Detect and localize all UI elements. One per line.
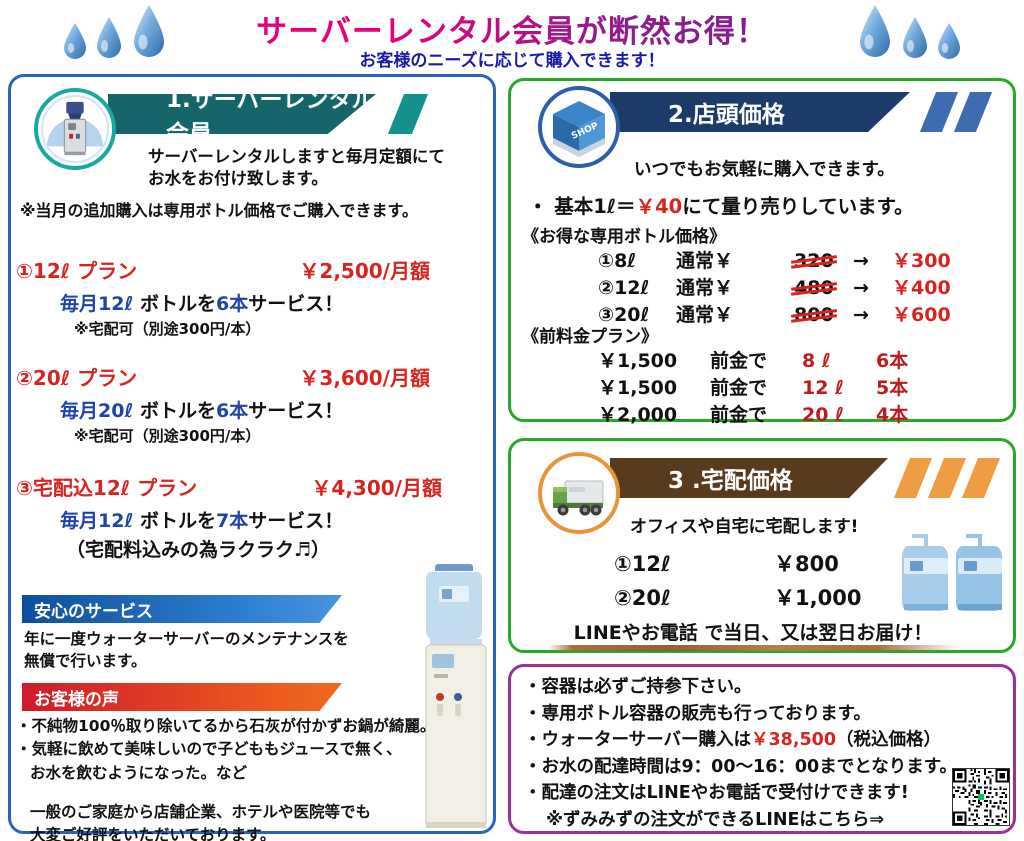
voice-line-5: 大変ご好評をいただいております。 xyxy=(16,824,436,841)
plan-price: ￥4,300/月額 xyxy=(311,472,486,501)
delivery-footer-text: LINEやお電話 で当日、又は翌日お届け！ xyxy=(538,618,968,645)
note-line: ・専用ボトル容器の販売も行っております。 xyxy=(524,701,994,728)
bottle-row-label: 通常￥ xyxy=(676,273,794,300)
arrow-icon: → xyxy=(830,277,892,299)
delivery-row-price: ￥800 xyxy=(774,548,839,578)
poster-header: サーバーレンタル会員が断然お得！ お客様のニーズに応じて購入できます！ xyxy=(0,0,1024,72)
section-3-title: 3 .宅配価格 xyxy=(668,461,793,495)
table-row: ￥1,500 前金で 12 ℓ 5本 xyxy=(598,373,908,400)
bottle-row-old-price: 480 xyxy=(794,277,834,299)
safe-service-line2: 無償で行います。 xyxy=(24,650,424,672)
section-2-title: 2.店頭価格 xyxy=(668,95,785,129)
safe-service-body: 年に一度ウォーターサーバーのメンテナンスを 無償で行います。 xyxy=(24,628,424,673)
plan-service-post: サービス！ xyxy=(248,400,343,422)
prepay-amount: ￥1,500 xyxy=(598,346,710,373)
shop-basic-pre: ・ 基本1ℓ＝ xyxy=(528,195,636,218)
note-line: ・お水の配達時間は9：00〜16：00までとなります。 xyxy=(524,754,994,781)
bottle-price-table: ①8ℓ 通常￥ 320 → ￥300 ②12ℓ 通常￥ 480 → ￥400 ③… xyxy=(598,246,951,327)
voice-line-3: お水を飲むようになった。など xyxy=(16,762,436,785)
notes-list: ・容器は必ずご持参下さい。 ・専用ボトル容器の販売も行っております。 ・ウォータ… xyxy=(524,674,994,834)
prepay-volume: 8 ℓ xyxy=(802,350,876,372)
bottle-price-heading: 《お得な専用ボトル価格》 xyxy=(522,222,726,247)
plan-service-pre: 毎月 xyxy=(60,510,98,532)
note-server-price: ￥38,500 xyxy=(751,730,836,750)
table-row: ￥1,500 前金で 8 ℓ 6本 xyxy=(598,346,908,373)
prepay-count: 6本 xyxy=(876,346,908,373)
water-server-photo xyxy=(412,556,496,834)
rental-lead-line2: お水をお付け致します。 xyxy=(148,168,488,190)
bottle-row-label: 通常￥ xyxy=(676,246,794,273)
prepay-amount: ￥2,000 xyxy=(598,400,710,427)
note-line: ・容器は必ずご持参下さい。 xyxy=(524,674,994,701)
shop-basic-amount: ￥40 xyxy=(636,195,683,218)
water-server-icon xyxy=(34,88,116,170)
bottle-row-new-price: ￥300 xyxy=(892,246,951,273)
rental-lead-text: サーバーレンタルしますと毎月定額にて お水をお付け致します。 xyxy=(148,146,488,191)
poster-subtitle: お客様のニーズに応じて購入できます！ xyxy=(0,46,1024,71)
plan-item: ②20ℓ プラン ￥3,600/月額 毎月20ℓ ボトルを6本サービス！ ※宅配… xyxy=(16,362,486,446)
delivery-row-price: ￥1,000 xyxy=(774,582,861,612)
note-line-line-qr: ※ずみみずの注文ができるLINEはこちら⇒ xyxy=(524,807,994,834)
plan-name: ①12ℓ プラン xyxy=(16,255,137,284)
prepay-text: 前金で xyxy=(710,373,802,400)
shop-basic-price: ・ 基本1ℓ＝￥40にて量り売りしています。 xyxy=(528,190,914,219)
table-row: ￥2,000 前金で 20 ℓ 4本 xyxy=(598,400,908,427)
plan-service-volume: 12ℓ xyxy=(98,510,133,532)
bottle-row-no: ①8ℓ xyxy=(598,250,676,272)
customer-voice-label: お客様の声 xyxy=(22,683,342,711)
note-server-post: （税込価格） xyxy=(836,730,941,750)
prepay-amount: ￥1,500 xyxy=(598,373,710,400)
plan-service-count: 6本 xyxy=(216,293,248,315)
safe-service-label: 安心のサービス xyxy=(22,595,342,623)
bottle-row-old-price: 800 xyxy=(794,304,834,326)
note-line-server-price: ・ウォーターサーバー購入は￥38,500（税込価格） xyxy=(524,727,994,754)
voice-line-4: 一般のご家庭から店舗企業、ホテルや医院等でも xyxy=(16,801,436,824)
plan-service-count: 7本 xyxy=(216,510,248,532)
prepay-table: ￥1,500 前金で 8 ℓ 6本 ￥1,500 前金で 12 ℓ 5本 ￥2,… xyxy=(598,346,908,427)
section-2-banner: 2.店頭価格 xyxy=(610,92,910,132)
plan-service-volume: 20ℓ xyxy=(98,400,133,422)
table-row: ②20ℓ ￥1,000 xyxy=(614,582,861,616)
shop-basic-post: にて量り売りしています。 xyxy=(682,195,913,218)
plan-note: ※宅配可（別途300円/本） xyxy=(16,425,486,446)
plan-service: 毎月20ℓ ボトルを6本サービス！ xyxy=(16,396,486,423)
plan-price: ￥3,600/月額 xyxy=(299,362,486,391)
voice-line-1: ・不純物100％取り除いてるから石灰が付かずお鍋が綺麗。 xyxy=(16,715,436,738)
prepay-count: 4本 xyxy=(876,400,908,427)
plan-service-volume: 12ℓ xyxy=(98,293,133,315)
bottle-row-label: 通常￥ xyxy=(676,300,794,327)
delivery-truck-icon xyxy=(538,452,620,534)
table-row: ①8ℓ 通常￥ 320 → ￥300 xyxy=(598,246,951,273)
shop-lead-text: いつでもお気軽に購入できます。 xyxy=(634,156,895,181)
line-qr-code[interactable] xyxy=(952,768,1010,826)
bottle-row-no: ②12ℓ xyxy=(598,277,676,299)
shop-building-icon: SHOP xyxy=(538,86,620,168)
plan-service: 毎月12ℓ ボトルを7本サービス！ xyxy=(16,506,486,533)
poster-page: サーバーレンタル会員が断然お得！ お客様のニーズに応じて購入できます！ 1.サー… xyxy=(0,0,1024,841)
arrow-icon: → xyxy=(830,304,892,326)
delivery-underline xyxy=(548,645,960,651)
plan-item: ①12ℓ プラン ￥2,500/月額 毎月12ℓ ボトルを6本サービス！ ※宅配… xyxy=(16,255,486,339)
delivery-lead-text: オフィスや自宅に宅配します! xyxy=(630,512,858,537)
bottle-row-new-price: ￥400 xyxy=(892,273,951,300)
prepay-text: 前金で xyxy=(710,346,802,373)
rental-note: ※当月の追加購入は専用ボトル価格でご購入できます。 xyxy=(20,197,490,221)
rental-lead-line1: サーバーレンタルしますと毎月定額にて xyxy=(148,146,488,168)
customer-voice-body: ・不純物100％取り除いてるから石灰が付かずお鍋が綺麗。 ・気軽に飲めて美味しい… xyxy=(16,715,436,841)
plan-service-post: サービス！ xyxy=(248,293,343,315)
prepay-volume: 20 ℓ xyxy=(802,404,876,426)
prepay-text: 前金で xyxy=(710,400,802,427)
safe-service-line1: 年に一度ウォーターサーバーのメンテナンスを xyxy=(24,628,424,650)
bottle-row-new-price: ￥600 xyxy=(892,300,951,327)
poster-title: サーバーレンタル会員が断然お得！ xyxy=(0,6,1024,51)
delivery-row-no: ②20ℓ xyxy=(614,586,774,610)
note-server-pre: ・ウォーターサーバー購入は xyxy=(524,730,751,750)
prepay-heading: 《前料金プラン》 xyxy=(522,322,658,347)
plan-note: ※宅配可（別途300円/本） xyxy=(16,318,486,339)
plan-price: ￥2,500/月額 xyxy=(299,255,486,284)
plan-service-mid: ボトルを xyxy=(133,510,216,532)
voice-line-2: ・気軽に飲めて美味しいので子どももジュースで無く、 xyxy=(16,738,436,761)
bottle-row-old-price: 320 xyxy=(794,250,834,272)
plan-name: ②20ℓ プラン xyxy=(16,362,137,391)
plan-service-count: 6本 xyxy=(216,400,248,422)
water-bottles-photo xyxy=(896,524,1008,622)
plan-name: ③宅配込12ℓ プラン xyxy=(16,472,197,501)
section-3-banner: 3 .宅配価格 xyxy=(610,458,888,498)
prepay-count: 5本 xyxy=(876,373,908,400)
delivery-row-no: ①12ℓ xyxy=(614,552,774,576)
plan-service-mid: ボトルを xyxy=(133,400,216,422)
plan-service-pre: 毎月 xyxy=(60,293,98,315)
plan-service: 毎月12ℓ ボトルを6本サービス！ xyxy=(16,289,486,316)
plan-service-pre: 毎月 xyxy=(60,400,98,422)
table-row: ①12ℓ ￥800 xyxy=(614,548,861,582)
plan-service-post: サービス！ xyxy=(248,510,343,532)
plan-service-mid: ボトルを xyxy=(133,293,216,315)
table-row: ②12ℓ 通常￥ 480 → ￥400 xyxy=(598,273,951,300)
prepay-volume: 12 ℓ xyxy=(802,377,876,399)
plan-item: ③宅配込12ℓ プラン ￥4,300/月額 毎月12ℓ ボトルを7本サービス！ … xyxy=(16,472,486,562)
delivery-price-table: ①12ℓ ￥800 ②20ℓ ￥1,000 xyxy=(614,548,861,616)
arrow-icon: → xyxy=(830,250,892,272)
note-line: ・配達の注文はLINEやお電話で受付けできます! xyxy=(524,780,994,807)
